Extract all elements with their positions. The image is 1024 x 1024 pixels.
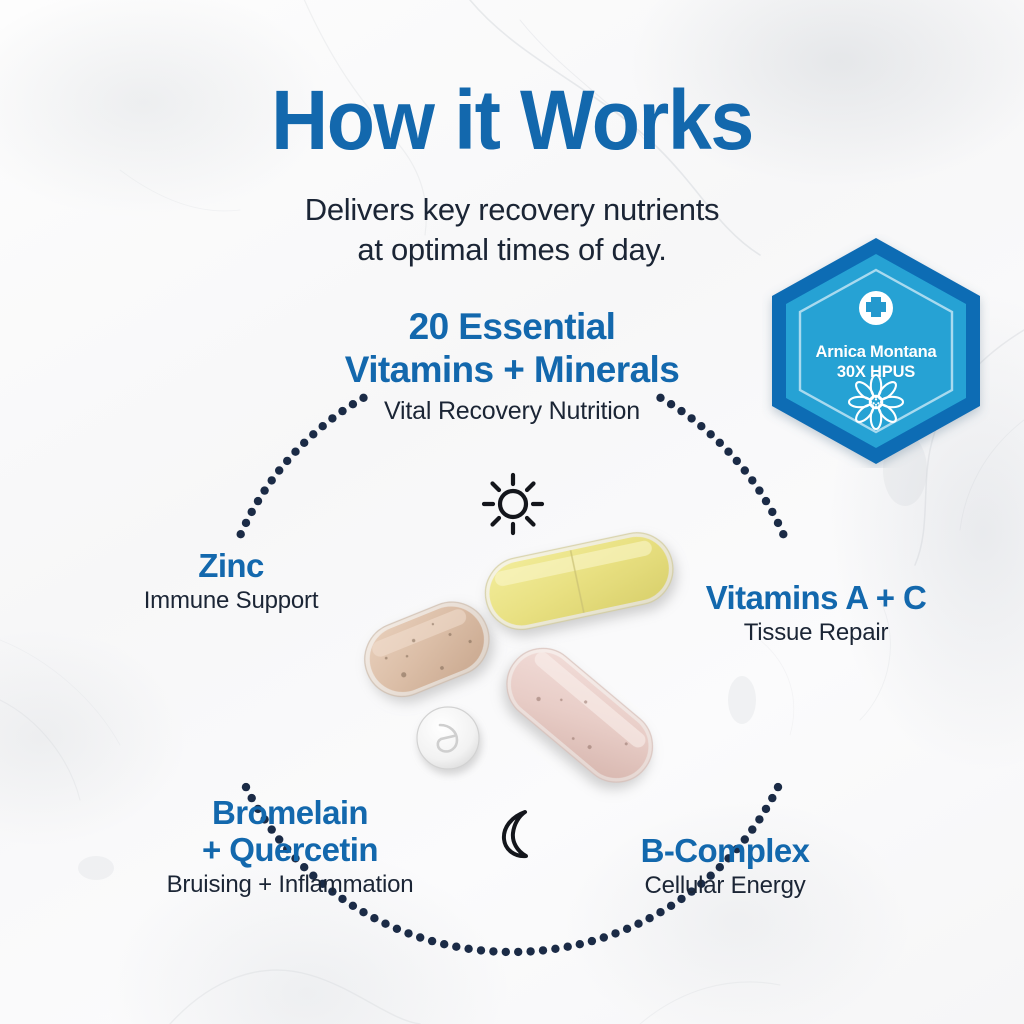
badge-line-2: 30X HPUS <box>762 362 990 382</box>
medical-cross-icon <box>859 291 893 325</box>
moon-icon <box>492 808 540 860</box>
arnica-montana-badge: Arnica Montana 30X HPUS <box>762 234 990 468</box>
node-heading: Zinc <box>66 548 396 585</box>
node-subtext: Immune Support <box>66 587 396 616</box>
node-heading: B-Complex <box>570 833 880 870</box>
node-b-complex: B-Complex Cellular Energy <box>570 833 880 901</box>
node-heading: Vitamins A + C <box>646 580 986 617</box>
node-heading: Bromelain + Quercetin <box>100 795 480 869</box>
node-essential-vitamins-minerals: 20 Essential Vitamins + Minerals Vital R… <box>262 306 762 426</box>
badge-line-1: Arnica Montana <box>762 342 990 362</box>
node-zinc: Zinc Immune Support <box>66 548 396 616</box>
node-subtext: Cellular Energy <box>570 872 880 901</box>
sun-icon <box>481 472 545 536</box>
badge-text: Arnica Montana 30X HPUS <box>762 342 990 382</box>
node-heading-line-1: 20 Essential <box>409 306 616 347</box>
node-subtext: Tissue Repair <box>646 619 986 648</box>
node-vitamins-a-c: Vitamins A + C Tissue Repair <box>646 580 986 648</box>
node-heading: 20 Essential Vitamins + Minerals <box>262 306 762 392</box>
node-heading-line-2: + Quercetin <box>202 831 378 868</box>
subtitle-line-1: Delivers key recovery nutrients <box>0 190 1024 230</box>
node-heading-line-2: Vitamins + Minerals <box>345 349 679 390</box>
white-tablet <box>417 707 479 769</box>
page-title: How it Works <box>31 78 994 162</box>
node-subtext: Vital Recovery Nutrition <box>262 396 762 426</box>
node-bromelain-quercetin: Bromelain + Quercetin Bruising + Inflamm… <box>100 795 480 900</box>
pink-capsule <box>492 634 667 797</box>
node-subtext: Bruising + Inflammation <box>100 871 480 900</box>
infographic-canvas: How it Works Delivers key recovery nutri… <box>0 0 1024 1024</box>
node-heading-line-1: Bromelain <box>212 794 368 831</box>
